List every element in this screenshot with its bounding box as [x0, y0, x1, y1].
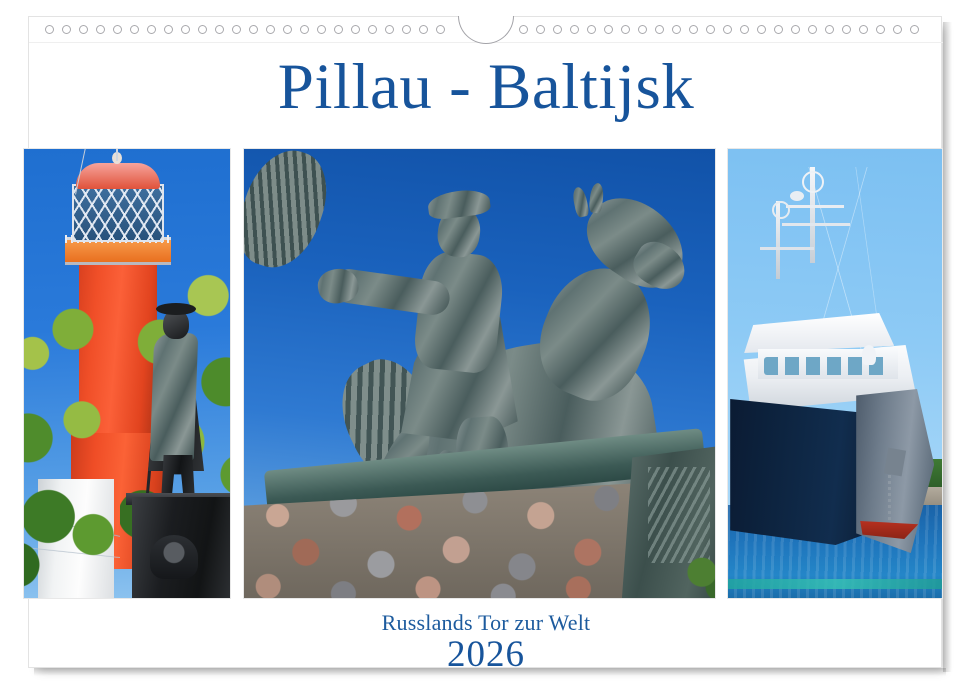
binding-hole [402, 25, 411, 34]
year-label: 2026 [29, 633, 943, 676]
double-headed-eagle-relief [648, 467, 710, 563]
photo-strip [29, 148, 943, 599]
binding-hole [587, 25, 596, 34]
statue-hat [156, 303, 196, 315]
lighthouse-dome [76, 163, 160, 189]
binding-hole [164, 25, 173, 34]
binding-hole [181, 25, 190, 34]
photo-equestrian-monument [243, 148, 717, 599]
binding-hole [689, 25, 698, 34]
photo-navy-ship [727, 148, 943, 599]
binding-hole [334, 25, 343, 34]
binding-hole [621, 25, 630, 34]
binding-hole [351, 25, 360, 34]
binding-hole [385, 25, 394, 34]
binding-hole [317, 25, 326, 34]
binding-hole [774, 25, 783, 34]
calendar-cover-page: Pillau - Baltijsk [0, 0, 971, 700]
pedestal-relief [150, 535, 198, 579]
binding-hole [79, 25, 88, 34]
page-shadow-right [943, 22, 952, 672]
binding-hole [266, 25, 275, 34]
binding-hole [876, 25, 885, 34]
binding-hole [436, 25, 445, 34]
binding-hole [570, 25, 579, 34]
binding-hole [113, 25, 122, 34]
binding-hole [842, 25, 851, 34]
tree-foliage-left [23, 299, 120, 599]
mast-yardarm-upper [786, 205, 844, 208]
binding-hole [893, 25, 902, 34]
binding-hole [249, 25, 258, 34]
binding-hole [130, 25, 139, 34]
binding-hole [723, 25, 732, 34]
binding-hole [672, 25, 681, 34]
binding-hole [536, 25, 545, 34]
page-title: Pillau - Baltijsk [29, 55, 943, 120]
panel-gap [231, 148, 243, 599]
binding-hole [519, 25, 528, 34]
binding-hole [419, 25, 428, 34]
binding-hole [198, 25, 207, 34]
binding-hole [655, 25, 664, 34]
statue-torso [150, 333, 198, 461]
mast-yardarm-middle [782, 223, 850, 226]
binding-hole [215, 25, 224, 34]
binding-hole [368, 25, 377, 34]
lightning-rod-icon [116, 148, 118, 161]
binding-hole-row [29, 17, 943, 43]
binding-hole [825, 25, 834, 34]
binding-hole [859, 25, 868, 34]
binding-hole [808, 25, 817, 34]
hanger-notch-icon [458, 16, 514, 44]
calendar-sheet: Pillau - Baltijsk [28, 16, 942, 668]
binding-hole [45, 25, 54, 34]
binding-hole [62, 25, 71, 34]
binding-hole [553, 25, 562, 34]
mast-yardarm-lower [760, 247, 814, 250]
binding-hole [232, 25, 241, 34]
binding-hole [96, 25, 105, 34]
binding-hole [638, 25, 647, 34]
binding-hole [791, 25, 800, 34]
binding-hole [300, 25, 309, 34]
radome [862, 345, 876, 365]
binding-hole [740, 25, 749, 34]
binding-hole [910, 25, 919, 34]
binding-hole [283, 25, 292, 34]
anchor-chain [888, 475, 891, 527]
binding-hole [147, 25, 156, 34]
teal-water-band [728, 579, 943, 589]
binding-hole [757, 25, 766, 34]
panel-gap [716, 148, 727, 599]
binding-hole [604, 25, 613, 34]
photo-lighthouse-statue [23, 148, 231, 599]
lantern-room [72, 184, 164, 242]
binding-hole [706, 25, 715, 34]
foliage [684, 553, 717, 599]
